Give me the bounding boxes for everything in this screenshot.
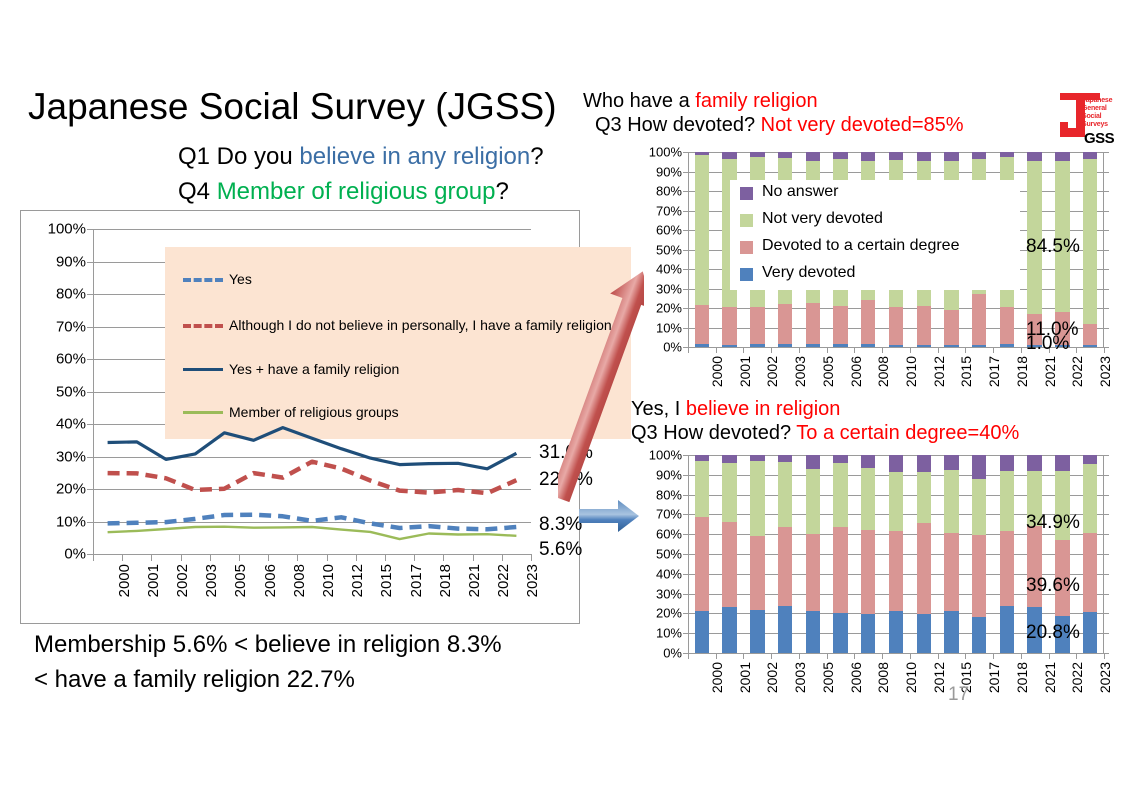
x-tick [910, 653, 911, 659]
x-tick-label: 2017 [986, 356, 1002, 387]
y-tick [683, 455, 688, 456]
bar-segment [1000, 531, 1014, 606]
x-tick [827, 653, 828, 659]
stacked-bar [1083, 455, 1097, 653]
bar-segment [944, 533, 958, 611]
x-tick-label: 2022 [1069, 662, 1085, 693]
x-tick [882, 653, 883, 659]
legend-color-swatch [740, 241, 753, 254]
x-tick-label: 2023 [1097, 356, 1113, 387]
x-tick [210, 554, 211, 561]
x-tick-label: 2000 [116, 564, 133, 597]
y-tick [1104, 475, 1109, 476]
x-tick [771, 653, 772, 659]
y-tick-label: 70% [656, 203, 682, 218]
bar-segment [944, 611, 958, 653]
bar-segment [889, 345, 903, 347]
bar-segment [1083, 324, 1097, 345]
x-tick [688, 347, 689, 353]
legend-color-swatch [740, 187, 753, 200]
question-q1: Q1 Do you believe in any religion? [178, 143, 544, 171]
y-tick [1104, 211, 1109, 212]
legend-color-swatch [740, 214, 753, 227]
x-tick [268, 554, 269, 561]
bar-segment [972, 152, 986, 159]
y-tick [683, 250, 688, 251]
x-tick [414, 554, 415, 561]
legend-color-swatch [740, 268, 753, 281]
bar-segment [695, 155, 709, 304]
x-tick-label: 2001 [737, 356, 753, 387]
bar-segment [833, 613, 847, 653]
bar-segment [1083, 612, 1097, 653]
bar-segment [778, 152, 792, 158]
x-tick-label: 2012 [349, 564, 366, 597]
stacked-bar [944, 455, 958, 653]
x-tick [531, 554, 532, 561]
y-tick-label: 60% [56, 351, 86, 368]
x-tick [938, 653, 939, 659]
bar-segment [861, 300, 875, 343]
y-tick [1104, 308, 1109, 309]
series-end-label: 8.3% [539, 514, 582, 536]
x-tick [993, 347, 994, 353]
bar-segment [806, 469, 820, 534]
y-tick-label: 90% [656, 164, 682, 179]
y-tick [683, 172, 688, 173]
stacked-bar [778, 455, 792, 653]
y-tick-label: 20% [656, 301, 682, 316]
x-tick-label: 2006 [848, 356, 864, 387]
x-tick-label: 2021 [1042, 356, 1058, 387]
bar-segment [917, 455, 931, 472]
bar-segment [722, 455, 736, 463]
right-arrow [578, 498, 640, 534]
y-tick-label: 30% [56, 448, 86, 465]
y-tick [1104, 269, 1109, 270]
x-tick-label: 2002 [764, 662, 780, 693]
y-tick [1104, 554, 1109, 555]
x-tick [882, 347, 883, 353]
bar-segment [944, 470, 958, 533]
y-tick [1104, 574, 1109, 575]
stacked-bar [695, 152, 709, 347]
bar-segment [1027, 455, 1041, 471]
x-tick [1076, 653, 1077, 659]
x-tick-label: 2010 [320, 564, 337, 597]
bot-h2-prefix: Q3 How devoted? [631, 422, 796, 444]
series-end-label: 1.0% [1026, 333, 1069, 355]
x-tick-label: 2023 [524, 564, 541, 597]
x-tick [688, 653, 689, 659]
logo-line: General [1082, 105, 1112, 113]
bar-segment [861, 614, 875, 653]
bar-segment [833, 527, 847, 613]
x-tick-label: 2018 [1014, 356, 1030, 387]
top-chart-header-line-2: Q3 How devoted? Not very devoted=85% [595, 112, 964, 138]
y-tick [683, 495, 688, 496]
legend-label: Not very devoted [762, 207, 883, 231]
bar-segment [1000, 455, 1014, 471]
page-title: Japanese Social Survey (JGSS) [28, 88, 568, 127]
x-tick-label: 2005 [820, 356, 836, 387]
q4-prefix: Q4 [178, 178, 217, 205]
y-tick [1104, 191, 1109, 192]
y-tick [683, 475, 688, 476]
y-tick [683, 613, 688, 614]
x-tick-label: 2006 [848, 662, 864, 693]
stacked-bar [695, 455, 709, 653]
series-end-label: 20.8% [1026, 622, 1080, 644]
bottom-chart-header-line-1: Yes, I believe in religion [631, 396, 840, 422]
caption-line-2: < have a family religion 22.7% [34, 663, 594, 698]
bar-segment [1083, 533, 1097, 611]
x-tick-label: 2012 [931, 356, 947, 387]
y-tick [683, 574, 688, 575]
y-tick-label: 80% [56, 286, 86, 303]
series-end-label: 39.6% [1026, 575, 1080, 597]
x-tick [854, 347, 855, 353]
x-tick-label: 2005 [232, 564, 249, 597]
stacked-bar [806, 455, 820, 653]
x-tick-label: 2015 [378, 564, 395, 597]
y-tick-label: 40% [56, 416, 86, 433]
bar-segment [944, 310, 958, 344]
y-tick-label: 10% [56, 513, 86, 530]
x-tick [743, 347, 744, 353]
bar-segment [944, 345, 958, 347]
x-tick [965, 653, 966, 659]
bar-segment [861, 152, 875, 161]
logo-line: Surveys [1082, 121, 1112, 129]
bar-segment [917, 472, 931, 523]
y-tick [1104, 289, 1109, 290]
bar-segment [695, 305, 709, 345]
y-tick-label: 80% [656, 487, 682, 502]
bar-segment [806, 344, 820, 348]
top-stacked-chart: 0%10%20%30%40%50%60%70%80%90%100% 200020… [620, 145, 1120, 385]
gridline [93, 554, 531, 555]
x-tick-label: 2018 [437, 564, 454, 597]
bar-segment [972, 479, 986, 534]
y-tick [683, 289, 688, 290]
bar-segment [695, 461, 709, 517]
bar-segment [695, 344, 709, 347]
bar-segment [1000, 471, 1014, 531]
bar-segment [1027, 152, 1041, 161]
y-tick [1104, 250, 1109, 251]
bar-segment [972, 617, 986, 653]
y-tick-label: 50% [656, 242, 682, 257]
x-tick-label: 2003 [792, 356, 808, 387]
top-h1-prefix: Who have a [583, 90, 695, 112]
x-tick [910, 347, 911, 353]
x-tick [1021, 653, 1022, 659]
bar-segment [1000, 152, 1014, 157]
x-tick [771, 347, 772, 353]
y-tick [683, 554, 688, 555]
bar-segment [806, 303, 820, 343]
x-tick-label: 2023 [1097, 662, 1113, 693]
bar-segment [722, 345, 736, 347]
bar-segment [917, 345, 931, 347]
y-tick [683, 211, 688, 212]
y-tick-label: 0% [663, 646, 682, 661]
stacked-bar [750, 455, 764, 653]
y-tick-label: 20% [656, 606, 682, 621]
y-tick [1104, 328, 1109, 329]
bot-h2-highlight: To a certain degree=40% [796, 422, 1019, 444]
y-tick-label: 0% [64, 546, 86, 563]
x-tick [799, 347, 800, 353]
y-tick [683, 514, 688, 515]
stacked-bar [833, 455, 847, 653]
y-tick-label: 50% [56, 383, 86, 400]
x-tick [827, 347, 828, 353]
y-tick-label: 40% [656, 262, 682, 277]
bar-segment [972, 294, 986, 345]
x-tick-label: 2018 [1014, 662, 1030, 693]
summary-caption: Membership 5.6% < believe in religion 8.… [34, 628, 594, 698]
bar-segment [1083, 152, 1097, 159]
q1-suffix: ? [530, 143, 543, 170]
y-tick-label: 0% [663, 340, 682, 355]
x-tick-label: 2022 [495, 564, 512, 597]
jgss-logo: JapaneseGeneralSocialSurveys GSS [1056, 92, 1118, 148]
x-tick-label: 2002 [174, 564, 191, 597]
y-tick [683, 191, 688, 192]
x-tick [297, 554, 298, 561]
bar-segment [1083, 464, 1097, 533]
y-tick-label: 30% [656, 281, 682, 296]
q1-highlight: believe in any religion [299, 143, 530, 170]
x-tick [473, 554, 474, 561]
y-tick [1104, 534, 1109, 535]
y-tick-label: 80% [656, 184, 682, 199]
bar-segment [806, 534, 820, 611]
stacked-bar [1083, 152, 1097, 347]
x-tick [327, 554, 328, 561]
bar-segment [972, 345, 986, 347]
bar-segment [861, 468, 875, 530]
q4-suffix: ? [496, 178, 509, 205]
y-tick [683, 308, 688, 309]
bar-segment [833, 306, 847, 345]
bar-segment [944, 455, 958, 470]
bar-segment [778, 304, 792, 345]
y-tick-label: 100% [649, 448, 682, 463]
y-tick-label: 100% [48, 221, 86, 238]
x-tick-label: 2017 [408, 564, 425, 597]
x-tick-label: 2015 [958, 356, 974, 387]
x-tick-label: 2010 [903, 356, 919, 387]
bar-segment [889, 307, 903, 344]
stacked-bar [722, 455, 736, 653]
page-number: 17 [948, 684, 969, 706]
bar-segment [750, 536, 764, 610]
bottom-stacked-chart: 0%10%20%30%40%50%60%70%80%90%100% 200020… [620, 448, 1120, 693]
top-h2-highlight: Not very devoted=85% [761, 114, 964, 136]
bar-segment [972, 455, 986, 479]
left-chart-plot-area: 0%10%20%30%40%50%60%70%80%90%100% YesAlt… [93, 229, 531, 554]
y-tick-label: 70% [56, 318, 86, 335]
up-right-arrow [558, 258, 644, 514]
x-tick [993, 653, 994, 659]
x-tick [181, 554, 182, 561]
y-tick [683, 152, 688, 153]
bar-segment [833, 344, 847, 347]
legend-label: Very devoted [762, 261, 855, 285]
y-tick [1104, 152, 1109, 153]
y-tick-label: 60% [656, 527, 682, 542]
x-tick [1104, 347, 1105, 353]
bar-segment [1055, 152, 1069, 161]
x-tick-label: 2003 [792, 662, 808, 693]
x-tick-label: 2000 [709, 356, 725, 387]
x-tick-label: 2012 [931, 662, 947, 693]
x-tick [443, 554, 444, 561]
bar-segment [695, 517, 709, 611]
bar-segment [778, 606, 792, 653]
series-end-label: 5.6% [539, 539, 582, 561]
logo-line: Japanese [1082, 97, 1112, 105]
y-tick [1104, 495, 1109, 496]
x-tick [1021, 347, 1022, 353]
y-tick-label: 10% [656, 626, 682, 641]
bar-segment [806, 611, 820, 653]
x-tick [356, 554, 357, 561]
y-tick-label: 10% [656, 320, 682, 335]
stacked-bar [889, 455, 903, 653]
x-tick [122, 554, 123, 561]
bar-segment [750, 455, 764, 461]
legend-label: Devoted to a certain degree [762, 234, 959, 258]
bar-segment [889, 152, 903, 160]
bar-segment [722, 307, 736, 345]
x-tick-label: 2006 [262, 564, 279, 597]
y-tick-label: 70% [656, 507, 682, 522]
bar-segment [722, 607, 736, 653]
x-tick-label: 2003 [203, 564, 220, 597]
gridline [688, 653, 1104, 654]
x-tick [93, 554, 94, 561]
y-tick [1104, 633, 1109, 634]
x-tick-label: 2000 [709, 662, 725, 693]
y-tick [683, 534, 688, 535]
bar-segment [861, 530, 875, 614]
x-tick-label: 2008 [875, 356, 891, 387]
bar-segment [750, 152, 764, 157]
y-tick [1104, 514, 1109, 515]
y-tick-label: 30% [656, 586, 682, 601]
y-tick [683, 594, 688, 595]
y-tick [683, 269, 688, 270]
y-tick-label: 40% [656, 566, 682, 581]
x-tick [1049, 653, 1050, 659]
y-tick-label: 50% [656, 547, 682, 562]
bar-segment [806, 152, 820, 161]
stacked-bar [1000, 455, 1014, 653]
x-tick-label: 2008 [875, 662, 891, 693]
x-tick [716, 347, 717, 353]
x-tick-label: 2001 [145, 564, 162, 597]
x-tick-label: 2002 [764, 356, 780, 387]
y-tick-label: 100% [649, 145, 682, 160]
logo-gss-text: GSS [1084, 130, 1114, 147]
y-tick [683, 230, 688, 231]
x-tick [385, 554, 386, 561]
y-tick [1104, 455, 1109, 456]
stacked-bar [972, 455, 986, 653]
bar-segment [1000, 307, 1014, 344]
bar-segment [1083, 345, 1097, 347]
bot-h1-highlight: believe in religion [686, 398, 841, 420]
stacked-bar [917, 455, 931, 653]
bar-segment [722, 522, 736, 607]
x-tick [743, 653, 744, 659]
bar-segment [889, 455, 903, 472]
top-h1-highlight: family religion [695, 90, 817, 112]
top-chart-legend: No answerNot very devotedDevoted to a ce… [730, 180, 1020, 290]
y-tick [683, 633, 688, 634]
x-tick-label: 2021 [1042, 662, 1058, 693]
bar-segment [917, 306, 931, 345]
stacked-bar [861, 455, 875, 653]
bar-segment [944, 152, 958, 161]
x-tick-label: 2008 [291, 564, 308, 597]
bar-segment [695, 152, 709, 155]
x-tick [965, 347, 966, 353]
bar-segment [889, 472, 903, 532]
bar-segment [806, 455, 820, 469]
x-tick [938, 347, 939, 353]
bar-segment [1083, 455, 1097, 464]
y-tick [1104, 230, 1109, 231]
top-chart-plot-area: 0%10%20%30%40%50%60%70%80%90%100% 200020… [688, 152, 1104, 347]
top-chart-header-line-1: Who have a family religion [583, 88, 818, 114]
q4-highlight: Member of religious group [217, 178, 496, 205]
bar-segment [778, 455, 792, 462]
top-h2-prefix: Q3 How devoted? [595, 114, 761, 136]
bar-segment [861, 344, 875, 348]
bar-segment [722, 463, 736, 522]
x-tick [799, 653, 800, 659]
bottom-chart-header-line-2: Q3 How devoted? To a certain degree=40% [631, 420, 1019, 446]
bar-segment [917, 523, 931, 614]
bar-segment [722, 152, 736, 159]
y-tick-label: 60% [656, 223, 682, 238]
x-tick [502, 554, 503, 561]
x-tick-label: 2017 [986, 662, 1002, 693]
x-tick-label: 2021 [466, 564, 483, 597]
q1-prefix: Q1 Do you [178, 143, 299, 170]
x-tick [1104, 653, 1105, 659]
y-tick [683, 328, 688, 329]
x-tick-label: 2022 [1069, 356, 1085, 387]
bar-segment [778, 527, 792, 606]
bar-segment [778, 462, 792, 527]
bottom-chart-plot-area: 0%10%20%30%40%50%60%70%80%90%100% 200020… [688, 455, 1104, 653]
bar-segment [889, 611, 903, 653]
y-tick-label: 90% [56, 253, 86, 270]
bar-segment [833, 455, 847, 463]
bar-segment [750, 307, 764, 344]
x-tick [1076, 347, 1077, 353]
bar-segment [750, 461, 764, 536]
y-tick [1104, 172, 1109, 173]
left-line-chart: 0%10%20%30%40%50%60%70%80%90%100% YesAlt… [20, 210, 580, 624]
bar-segment [1000, 344, 1014, 347]
